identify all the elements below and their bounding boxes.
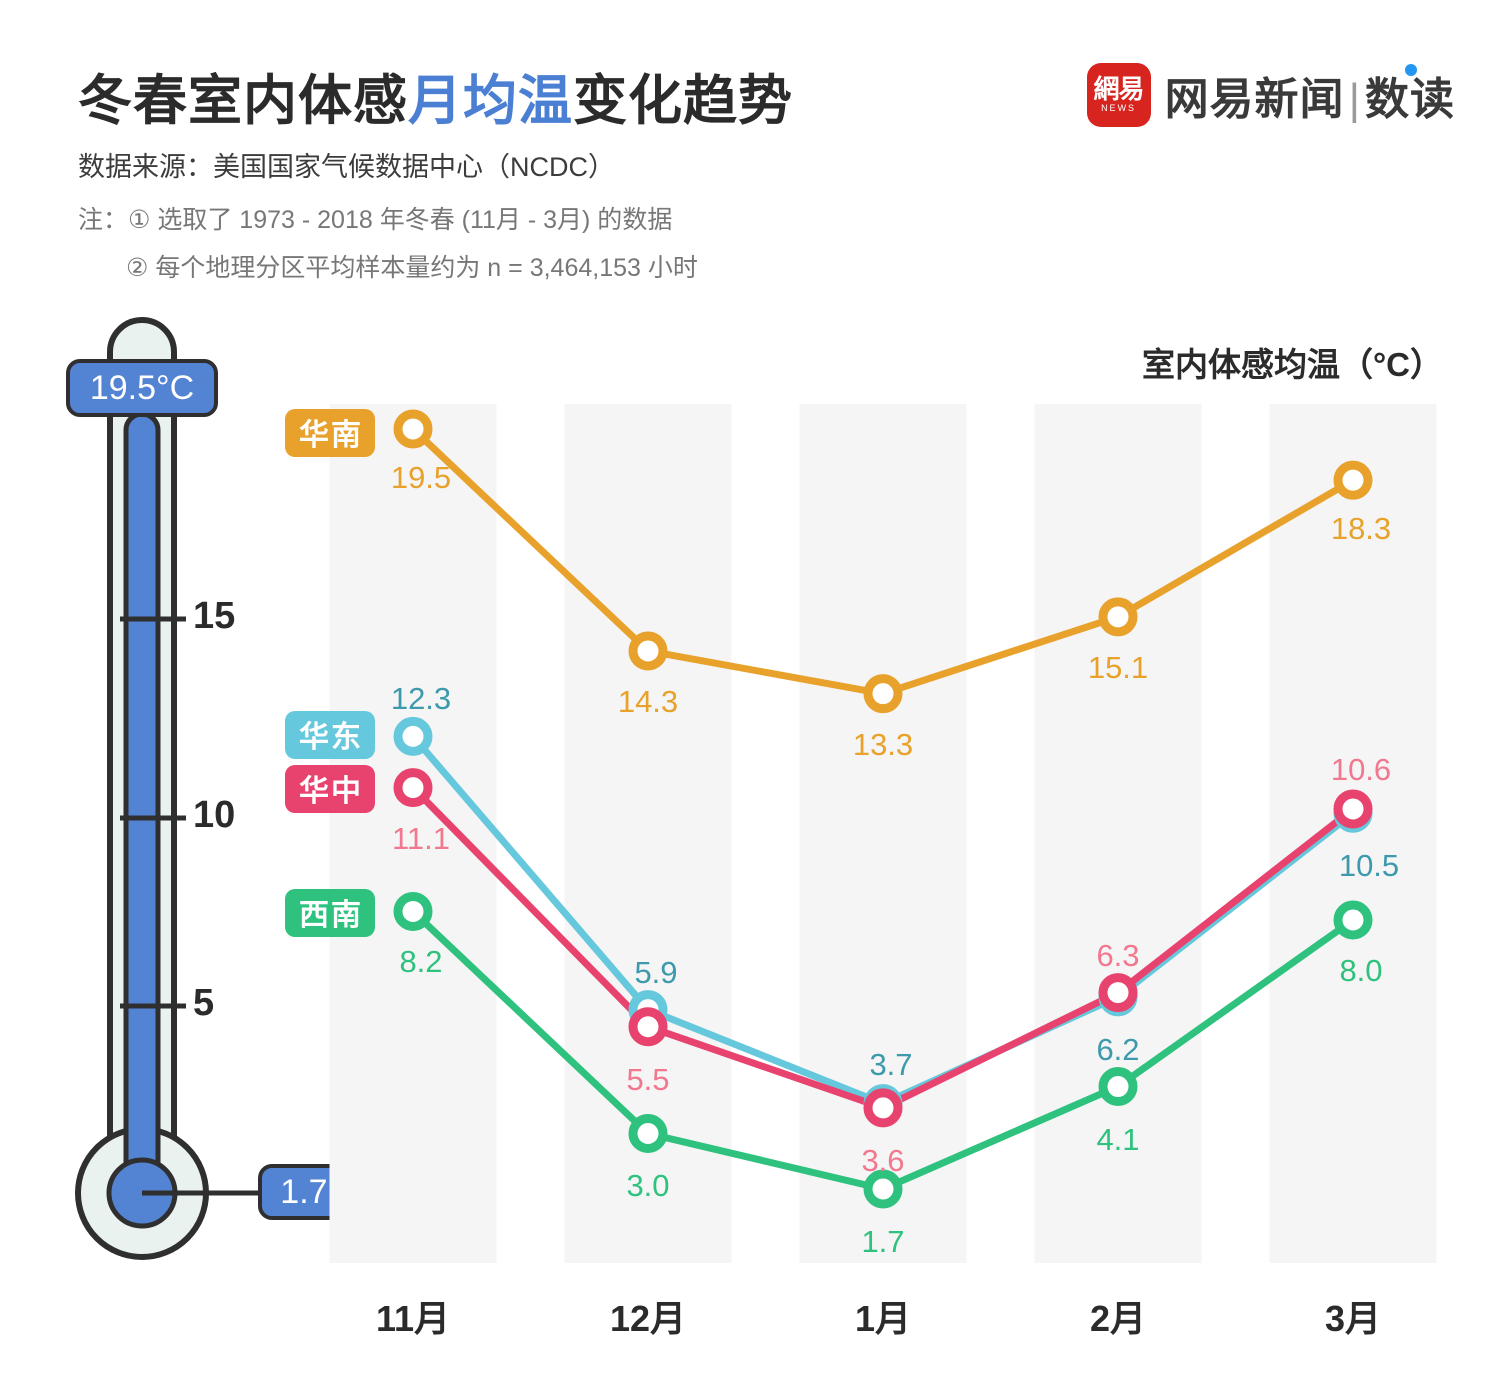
chart-data-point[interactable] bbox=[398, 414, 428, 444]
x-axis-label-1月: 1月 bbox=[855, 1290, 911, 1342]
chart-value-label: 3.6 bbox=[861, 1143, 904, 1179]
chart-value-label: 4.1 bbox=[1096, 1122, 1139, 1158]
chart-data-point[interactable] bbox=[633, 636, 663, 666]
chart-value-label: 12.3 bbox=[391, 681, 451, 717]
chart-data-point[interactable] bbox=[1103, 1072, 1133, 1102]
chart-value-label: 10.5 bbox=[1339, 848, 1399, 884]
chart-data-point[interactable] bbox=[398, 773, 428, 803]
chart-data-point[interactable] bbox=[1338, 465, 1368, 495]
chart-data-point[interactable] bbox=[868, 1093, 898, 1123]
chart-value-label: 5.9 bbox=[634, 955, 677, 991]
x-axis-label-3月: 3月 bbox=[1325, 1290, 1381, 1342]
chart-value-label: 3.0 bbox=[626, 1168, 669, 1204]
chart-data-point[interactable] bbox=[398, 721, 428, 751]
chart-value-label: 8.2 bbox=[399, 944, 442, 980]
chart-value-label: 1.7 bbox=[861, 1224, 904, 1260]
x-axis-label-2月: 2月 bbox=[1090, 1290, 1146, 1342]
chart-value-label: 11.1 bbox=[392, 821, 450, 857]
legend-chip-华中[interactable]: 华中 bbox=[285, 765, 375, 813]
legend-chip-西南[interactable]: 西南 bbox=[285, 889, 375, 937]
chart-data-point[interactable] bbox=[633, 1118, 663, 1148]
chart-value-label: 14.3 bbox=[618, 684, 678, 720]
legend-chip-华南[interactable]: 华南 bbox=[285, 409, 375, 457]
chart-value-label: 18.3 bbox=[1331, 511, 1391, 547]
chart-column-band bbox=[800, 404, 967, 1263]
chart-data-point[interactable] bbox=[398, 896, 428, 926]
chart-value-label: 6.3 bbox=[1096, 938, 1139, 974]
chart-value-label: 3.7 bbox=[869, 1047, 912, 1083]
chart-data-point[interactable] bbox=[868, 679, 898, 709]
line-chart bbox=[0, 0, 1501, 1374]
chart-value-label: 19.5 bbox=[391, 460, 451, 496]
chart-value-label: 13.3 bbox=[853, 727, 913, 763]
chart-data-point[interactable] bbox=[633, 1012, 663, 1042]
chart-data-point[interactable] bbox=[1103, 978, 1133, 1008]
chart-value-label: 8.0 bbox=[1339, 953, 1382, 989]
chart-data-point[interactable] bbox=[1338, 794, 1368, 824]
chart-data-point[interactable] bbox=[1103, 602, 1133, 632]
chart-value-label: 6.2 bbox=[1096, 1032, 1139, 1068]
chart-value-label: 15.1 bbox=[1088, 650, 1148, 686]
x-axis-label-11月: 11月 bbox=[376, 1290, 450, 1342]
chart-data-point[interactable] bbox=[1338, 905, 1368, 935]
legend-chip-华东[interactable]: 华东 bbox=[285, 711, 375, 759]
chart-value-label: 5.5 bbox=[626, 1062, 669, 1098]
chart-value-label: 10.6 bbox=[1331, 752, 1391, 788]
x-axis-label-12月: 12月 bbox=[610, 1290, 686, 1342]
